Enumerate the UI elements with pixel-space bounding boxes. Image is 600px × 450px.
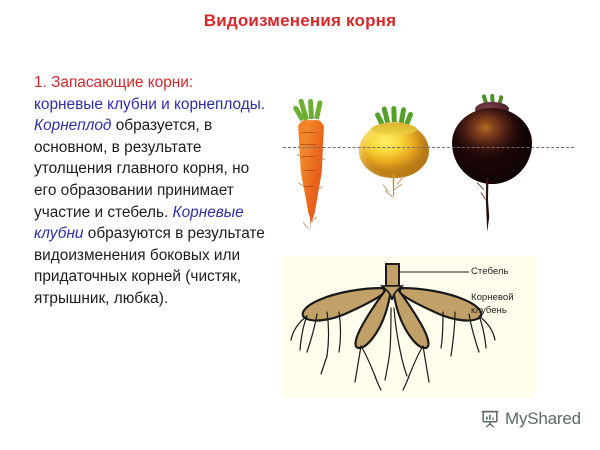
turnip-illustration [359, 106, 429, 216]
text-segment-heading: 1. Запасающие корни: [34, 74, 193, 91]
soil-level-line [283, 147, 574, 148]
carrot-illustration [287, 98, 335, 230]
lesson-body-text: 1. Запасающие корни: корневые клубни и к… [34, 72, 266, 310]
root-tuber-diagram-panel: Стебель Корневой клубень [283, 256, 535, 398]
carrot-leaf-icon [314, 100, 323, 120]
page-title: Видоизменения корня [0, 11, 600, 31]
label-root-tuber: Корневой клубень [471, 292, 514, 317]
storage-roots-photo-panel [283, 78, 574, 242]
label-root-tuber-line2: клубень [471, 305, 514, 318]
beet-body [452, 108, 532, 184]
carrot-leaf-icon [308, 99, 314, 119]
presentation-board-icon [480, 409, 500, 429]
myshared-watermark: MyShared [480, 409, 581, 429]
label-root-tuber-line1: Корневой [471, 292, 514, 305]
stem-shape [386, 264, 399, 286]
turnip-shoulder [371, 123, 417, 135]
watermark-label: MyShared [505, 409, 581, 429]
beet-taproot [482, 178, 492, 232]
text-term-kornepod: Корнеплод [34, 117, 116, 134]
beet-illustration [451, 94, 533, 236]
label-stem: Стебель [471, 266, 508, 279]
text-segment-subheading: корневые клубни и корнеплоды. [34, 96, 265, 113]
